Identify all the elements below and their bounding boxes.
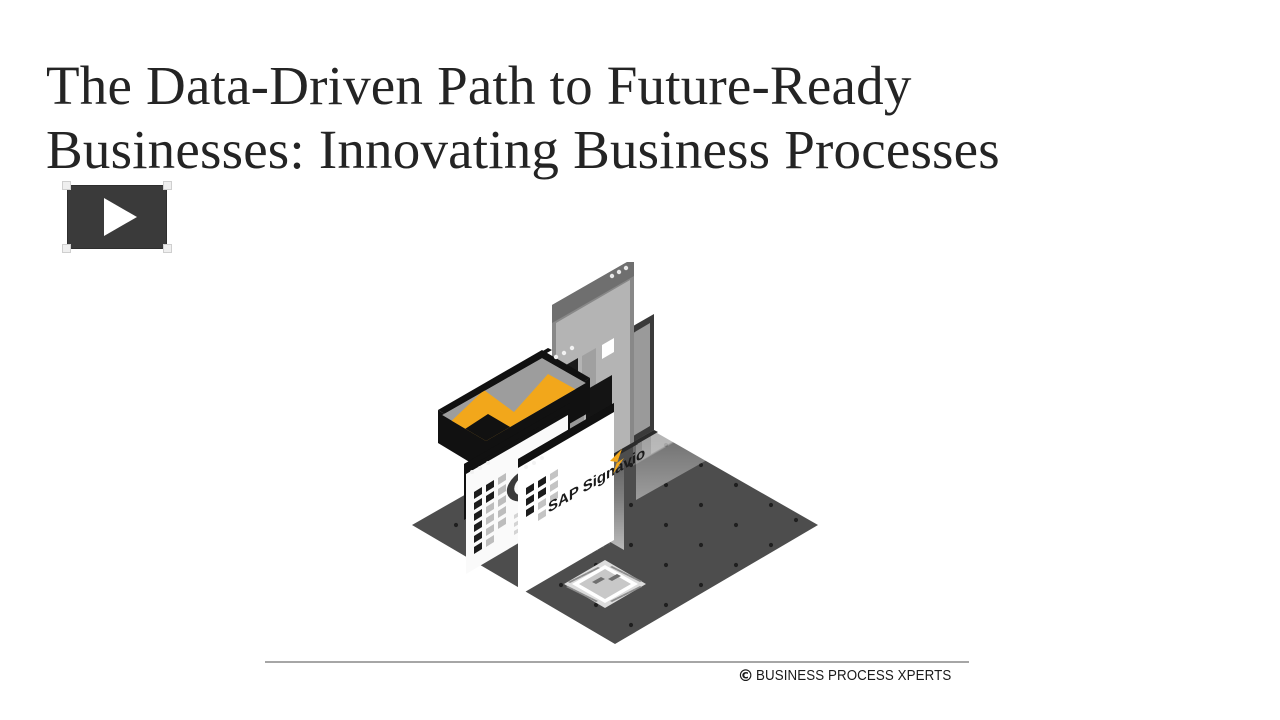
isometric-illustration: SAP Signavio (396, 262, 836, 662)
selection-handle-top-left[interactable] (62, 181, 71, 190)
play-button[interactable] (67, 185, 167, 249)
selection-handle-bottom-right[interactable] (163, 244, 172, 253)
slide-canvas: The Data-Driven Path to Future-Ready Bus… (0, 0, 1280, 720)
footer-divider (265, 661, 969, 663)
page-title: The Data-Driven Path to Future-Ready Bus… (46, 54, 1166, 182)
footer-credit-text: BUSINESS PROCESS XPERTS (756, 668, 951, 684)
title-line-1: The Data-Driven Path to Future-Ready (46, 54, 1166, 118)
selection-handle-top-right[interactable] (163, 181, 172, 190)
video-placeholder-object[interactable] (62, 181, 172, 253)
play-triangle-icon (104, 198, 137, 236)
title-line-2: Businesses: Innovating Business Processe… (46, 118, 1166, 182)
footer-credit: © BUSINESS PROCESS XPERTS (738, 668, 968, 684)
selection-handle-bottom-left[interactable] (62, 244, 71, 253)
copyright-icon: © (738, 668, 754, 684)
